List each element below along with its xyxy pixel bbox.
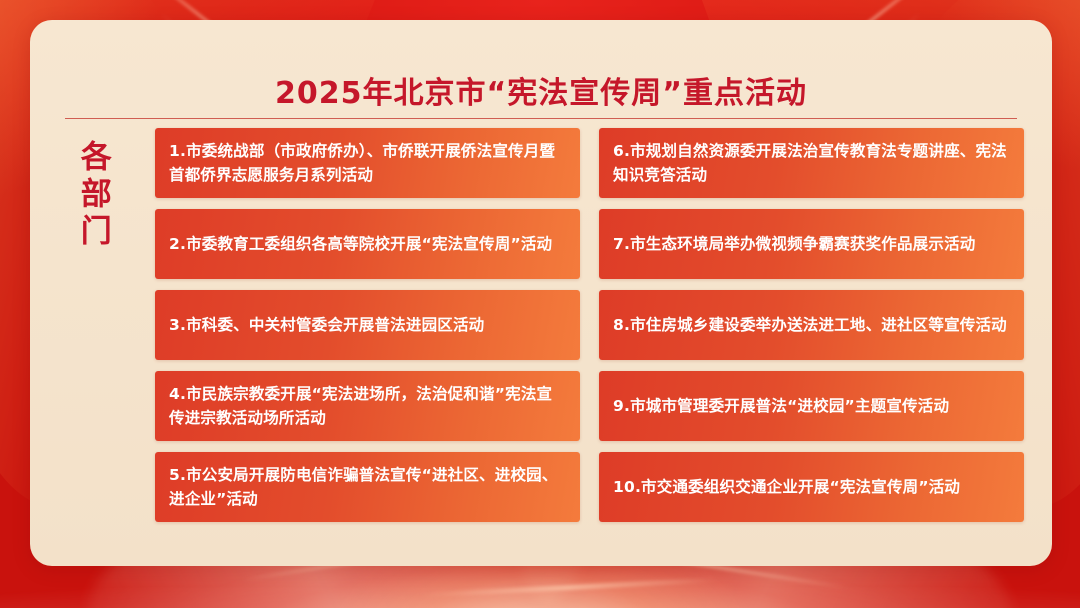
page-title: 2025年北京市“宪法宣传周”重点活动 <box>30 68 1052 112</box>
section-label-text: 各部门 <box>74 140 111 251</box>
title-divider <box>65 118 1017 119</box>
activity-card[interactable]: 7.市生态环境局举办微视频争霸赛获奖作品展示活动 <box>599 209 1024 279</box>
activity-card[interactable]: 3.市科委、中关村管委会开展普法进园区活动 <box>155 290 580 360</box>
activity-card-text: 9.市城市管理委开展普法“进校园”主题宣传活动 <box>613 394 1010 418</box>
activity-card[interactable]: 10.市交通委组织交通企业开展“宪法宣传周”活动 <box>599 452 1024 522</box>
activity-card[interactable]: 4.市民族宗教委开展“宪法进场所，法治促和谐”宪法宣传进宗教活动场所活动 <box>155 371 580 441</box>
content-panel: 2025年北京市“宪法宣传周”重点活动 各部门 1.市委统战部（市政府侨办）、市… <box>30 20 1052 566</box>
activity-card[interactable]: 8.市住房城乡建设委举办送法进工地、进社区等宣传活动 <box>599 290 1024 360</box>
activity-card[interactable]: 6.市规划自然资源委开展法治宣传教育法专题讲座、宪法知识竞答活动 <box>599 128 1024 198</box>
activity-card-text: 8.市住房城乡建设委举办送法进工地、进社区等宣传活动 <box>613 313 1010 337</box>
activity-card-text: 10.市交通委组织交通企业开展“宪法宣传周”活动 <box>613 475 1010 499</box>
poster-root: 2025年北京市“宪法宣传周”重点活动 各部门 1.市委统战部（市政府侨办）、市… <box>0 0 1080 608</box>
activity-card[interactable]: 2.市委教育工委组织各高等院校开展“宪法宣传周”活动 <box>155 209 580 279</box>
activity-card-text: 3.市科委、中关村管委会开展普法进园区活动 <box>169 313 566 337</box>
activity-card-text: 6.市规划自然资源委开展法治宣传教育法专题讲座、宪法知识竞答活动 <box>613 139 1010 187</box>
activity-card-text: 2.市委教育工委组织各高等院校开展“宪法宣传周”活动 <box>169 232 566 256</box>
activity-card-text: 1.市委统战部（市政府侨办）、市侨联开展侨法宣传月暨首都侨界志愿服务月系列活动 <box>169 139 566 187</box>
activity-card-text: 4.市民族宗教委开展“宪法进场所，法治促和谐”宪法宣传进宗教活动场所活动 <box>169 382 566 430</box>
activity-card-text: 7.市生态环境局举办微视频争霸赛获奖作品展示活动 <box>613 232 1010 256</box>
activity-card[interactable]: 9.市城市管理委开展普法“进校园”主题宣传活动 <box>599 371 1024 441</box>
section-label: 各部门 <box>30 128 155 251</box>
activity-column-right: 6.市规划自然资源委开展法治宣传教育法专题讲座、宪法知识竞答活动 7.市生态环境… <box>599 128 1024 522</box>
activity-card[interactable]: 1.市委统战部（市政府侨办）、市侨联开展侨法宣传月暨首都侨界志愿服务月系列活动 <box>155 128 580 198</box>
activity-columns: 1.市委统战部（市政府侨办）、市侨联开展侨法宣传月暨首都侨界志愿服务月系列活动 … <box>155 128 1052 522</box>
activity-column-left: 1.市委统战部（市政府侨办）、市侨联开展侨法宣传月暨首都侨界志愿服务月系列活动 … <box>155 128 580 522</box>
activities-body: 各部门 1.市委统战部（市政府侨办）、市侨联开展侨法宣传月暨首都侨界志愿服务月系… <box>30 128 1052 548</box>
activity-card[interactable]: 5.市公安局开展防电信诈骗普法宣传“进社区、进校园、进企业”活动 <box>155 452 580 522</box>
activity-card-text: 5.市公安局开展防电信诈骗普法宣传“进社区、进校园、进企业”活动 <box>169 463 566 511</box>
